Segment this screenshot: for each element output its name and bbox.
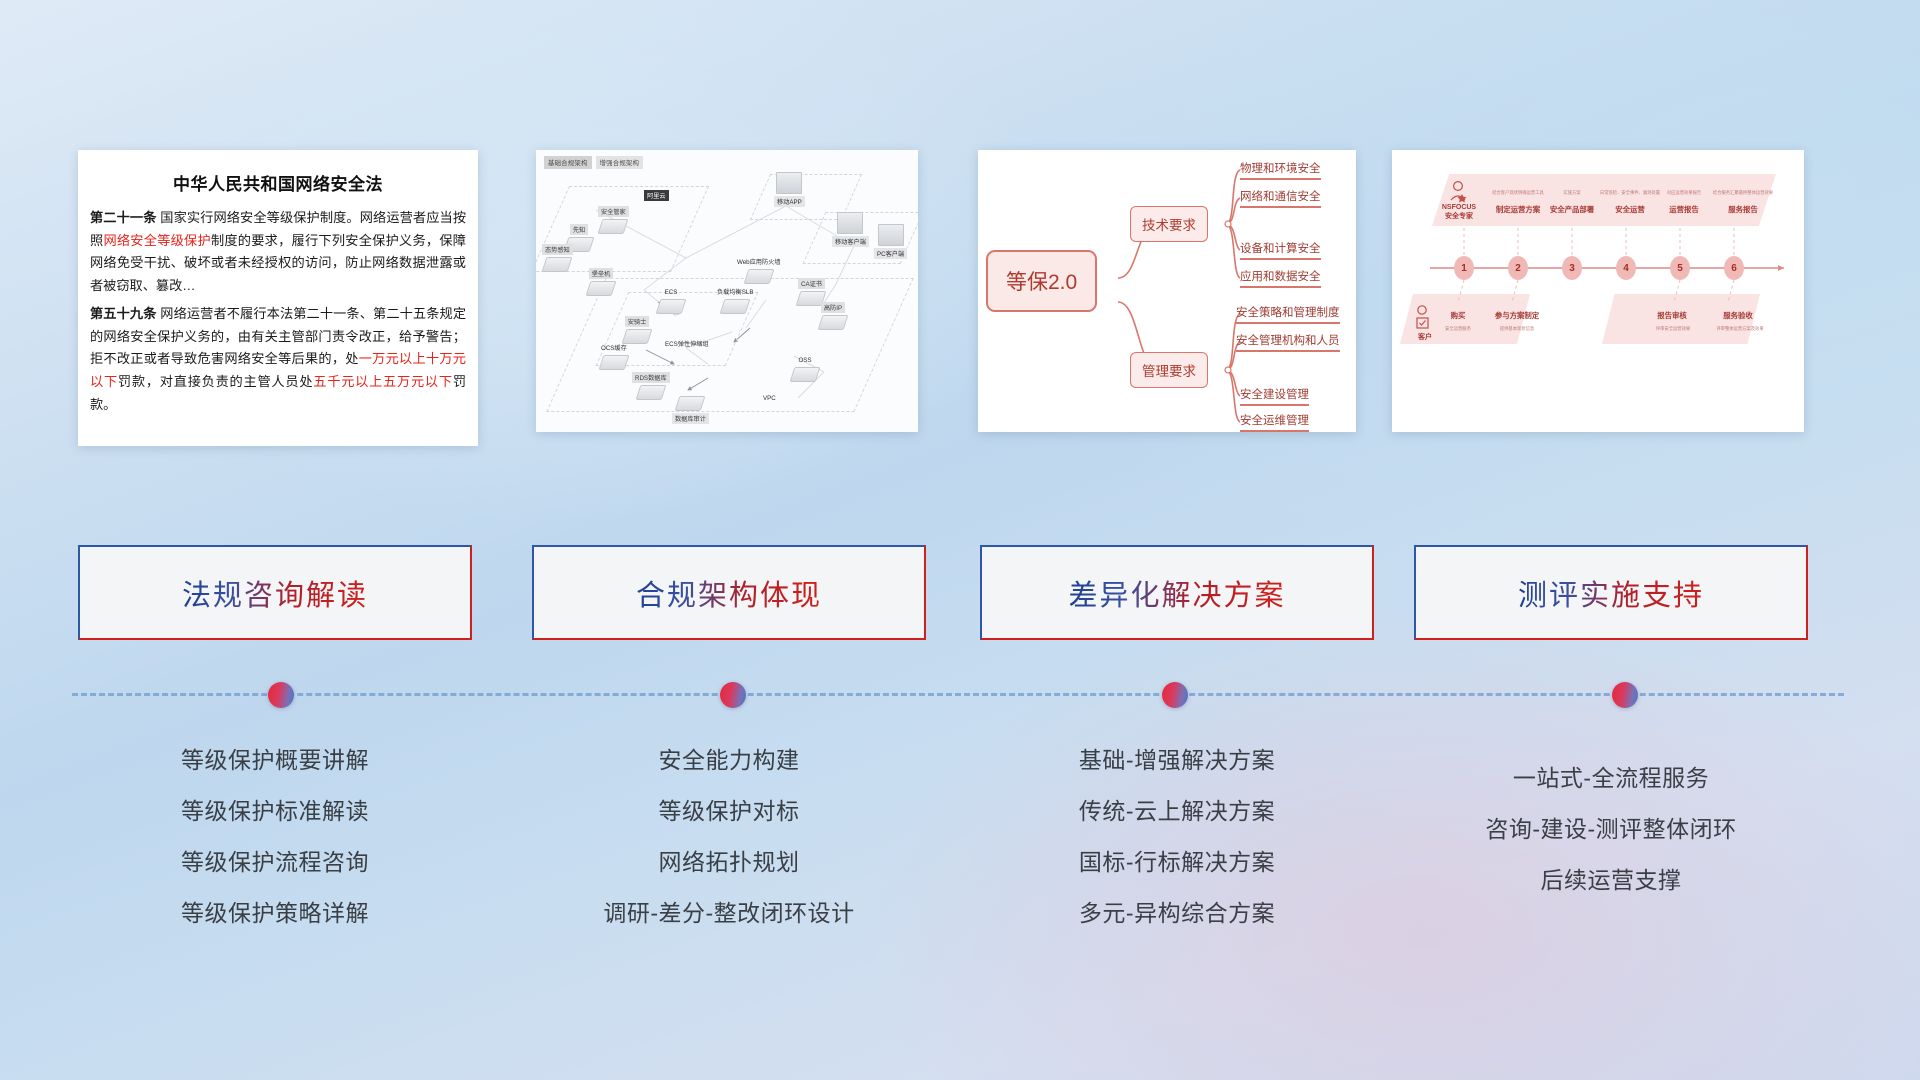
list-item[interactable]: 等级保护对标	[532, 786, 926, 837]
law-document-title: 中华人民共和国网络安全法	[90, 170, 466, 195]
section-title-label-2: 合规架构体现	[636, 572, 822, 614]
list-item[interactable]: 等级保护流程咨询	[78, 837, 472, 888]
arch-node-ca-cert-label: CA证书	[798, 278, 825, 289]
expert-step-3-name: 安全产品部署	[1540, 204, 1604, 215]
list-item[interactable]: 咨询-建设-测评整体闭环	[1414, 804, 1808, 855]
feature-list-row: 等级保护概要讲解 等级保护标准解读 等级保护流程咨询 等级保护策略详解 安全能力…	[0, 735, 1920, 965]
law-article-21: 第二十一条 国家实行网络安全等级保护制度。网络运营者应当按照网络安全等级保护制度…	[90, 207, 466, 298]
arch-node-xianzhi-label: 先知	[570, 224, 588, 235]
arch-node-anqishi-label: 安骑士	[625, 316, 650, 327]
cloud-architecture-card[interactable]: 基础合规架构 增强合规架构	[536, 150, 918, 432]
law-article-59: 第五十九条 网络运营者不履行本法第二十一条、第二十五条规定的网络安全保护义务的，…	[90, 303, 466, 417]
arch-node-mobile-client-label: 移动客户端	[832, 236, 869, 247]
arch-node-rds-label: RDS数据库	[632, 372, 670, 383]
arch-node-aliyun[interactable]: 阿里云	[644, 190, 669, 203]
mindmap-branch-technical[interactable]: 技术要求	[1130, 206, 1208, 242]
list-item[interactable]: 传统-云上解决方案	[980, 786, 1374, 837]
arch-node-ocs-cache-label: OCS缓存	[598, 342, 630, 353]
mindmap-collapse-handle-mgmt	[1225, 367, 1231, 373]
arch-node-situation-awareness-label: 态势感知	[542, 244, 573, 255]
customer-step-3-name: 报告审核	[1642, 310, 1702, 321]
mindmap-leaf-tech-3[interactable]: 应用和数据安全	[1240, 268, 1321, 288]
arch-icon-rds	[635, 385, 666, 400]
timeline-step-dot-1[interactable]: 1	[1454, 256, 1474, 280]
list-item[interactable]: 等级保护概要讲解	[78, 735, 472, 786]
timeline-step-dot-2[interactable]: 2	[1508, 256, 1528, 280]
arch-node-pc-client[interactable]: PC客户端	[874, 224, 907, 259]
arch-icon-bastion-host	[586, 281, 617, 296]
arch-node-db-audit[interactable]: 数据库审计	[672, 396, 709, 424]
list-item[interactable]: 基础-增强解决方案	[980, 735, 1374, 786]
timeline-track	[72, 693, 1844, 696]
expert-step-6-name: 服务报告	[1704, 204, 1782, 215]
list-item[interactable]: 多元-异构综合方案	[980, 888, 1374, 939]
arch-icon-db-audit	[675, 396, 706, 411]
arch-node-ecs[interactable]: ECS	[658, 288, 684, 314]
arch-node-oss[interactable]: OSS	[792, 356, 818, 382]
arch-node-pc-client-label: PC客户端	[874, 248, 907, 259]
customer-step-4-sub: 评审整体运营方案及效果	[1702, 326, 1778, 332]
arch-node-anqishi[interactable]: 安骑士	[624, 316, 650, 344]
law-article-21-label: 第二十一条	[90, 210, 157, 225]
customer-person-icon	[1417, 306, 1428, 328]
arch-node-mobile-app-label: 移动APP	[774, 196, 805, 207]
arch-node-rds[interactable]: RDS数据库	[632, 372, 670, 400]
nsfocus-timeline-card[interactable]: NSFOCUS安全专家 客户 结合客户现状明确运营工具 制定运营方案 实施方案 …	[1392, 150, 1804, 432]
section-title-box-1[interactable]: 法规咨询解读	[78, 545, 472, 640]
section-title-box-3[interactable]: 差异化解决方案	[980, 545, 1374, 640]
arch-node-vpc-label: VPC	[760, 394, 779, 403]
arch-node-db-audit-label: 数据库审计	[672, 413, 709, 424]
section-title-row: 法规咨询解读 合规架构体现 差异化解决方案 测评实施支持	[0, 545, 1920, 640]
mindmap-leaf-mgmt-3[interactable]: 安全运维管理	[1240, 412, 1309, 432]
architecture-diagram: 基础合规架构 增强合规架构	[536, 150, 918, 432]
arch-node-oss-label: OSS	[795, 356, 814, 365]
timeline-step-dot-5[interactable]: 5	[1670, 256, 1690, 280]
feature-column-2: 安全能力构建 等级保护对标 网络拓扑规划 调研-差分-整改闭环设计	[532, 735, 926, 939]
section-title-label-3: 差异化解决方案	[1068, 572, 1285, 614]
customer-step-2-name: 参与方案制定	[1484, 310, 1550, 321]
arch-node-bastion-host-label: 堡垒机	[589, 268, 614, 279]
nsfocus-expert-label: NSFOCUS安全专家	[1432, 204, 1486, 222]
arch-node-ocs-cache[interactable]: OCS缓存	[598, 342, 630, 370]
list-item[interactable]: 国标-行标解决方案	[980, 837, 1374, 888]
arch-node-security-butler-label: 安全管家	[598, 206, 629, 217]
timeline-dashed-line	[72, 693, 1844, 696]
feature-column-3: 基础-增强解决方案 传统-云上解决方案 国标-行标解决方案 多元-异构综合方案	[980, 735, 1374, 939]
screenshot-card-row: 中华人民共和国网络安全法 第二十一条 国家实行网络安全等级保护制度。网络运营者应…	[0, 150, 1920, 446]
list-item[interactable]: 等级保护标准解读	[78, 786, 472, 837]
arch-icon-waf	[743, 269, 774, 284]
mindmap-leaf-tech-2[interactable]: 设备和计算安全	[1240, 240, 1321, 260]
expert-step-6-sub: 结合服务汇聚最终整体运营效果	[1704, 190, 1782, 196]
mindmap-collapse-handle-tech	[1225, 221, 1231, 227]
arch-node-mobile-client[interactable]: 移动客户端	[832, 212, 869, 247]
arch-icon-pc-client	[878, 224, 904, 246]
poster-stage: 中华人民共和国网络安全法 第二十一条 国家实行网络安全等级保护制度。网络运营者应…	[0, 0, 1920, 1080]
mindmap-leaf-tech-1[interactable]: 网络和通信安全	[1240, 188, 1321, 208]
list-item[interactable]: 等级保护策略详解	[78, 888, 472, 939]
timeline-marker-1[interactable]	[268, 682, 294, 708]
law-document-card[interactable]: 中华人民共和国网络安全法 第二十一条 国家实行网络安全等级保护制度。网络运营者应…	[78, 150, 478, 446]
arch-node-ecs-scaling-group-label: ECS弹性伸缩组	[662, 338, 712, 349]
mindmap-card[interactable]: 等保2.0 技术要求 管理要求 物理和环境安全 网络和通信安全 设备和计算安全 …	[978, 150, 1356, 432]
arch-node-bastion-host[interactable]: 堡垒机	[588, 268, 614, 296]
customer-step-3-sub: 评审安全运营效果	[1638, 326, 1708, 332]
customer-step-2-sub: 提供基本现状信息	[1484, 326, 1550, 332]
arch-icon-mobile-app	[776, 172, 802, 194]
arch-node-waf[interactable]: Web应用防火墙	[734, 256, 784, 284]
arch-node-anti-ddos-ip[interactable]: 高防IP	[820, 302, 846, 330]
arch-icon-anti-ddos-ip	[818, 315, 849, 330]
arch-icon-oss	[790, 367, 821, 382]
arch-node-security-butler[interactable]: 安全管家	[598, 206, 629, 234]
feature-column-4: 一站式-全流程服务 咨询-建设-测评整体闭环 后续运营支撑	[1414, 735, 1808, 906]
dengbao-mindmap: 等保2.0 技术要求 管理要求 物理和环境安全 网络和通信安全 设备和计算安全 …	[978, 150, 1356, 432]
arch-icon-mobile-client	[837, 212, 863, 234]
section-title-box-4[interactable]: 测评实施支持	[1414, 545, 1808, 640]
list-item[interactable]: 调研-差分-整改闭环设计	[532, 888, 926, 939]
timeline-marker-2[interactable]	[720, 682, 746, 708]
mindmap-leaf-mgmt-0[interactable]: 安全策略和管理制度	[1236, 304, 1340, 324]
expert-step-3-sub: 实施方案	[1540, 190, 1604, 196]
feature-column-1: 等级保护概要讲解 等级保护标准解读 等级保护流程咨询 等级保护策略详解	[78, 735, 472, 939]
timeline-marker-4[interactable]	[1612, 682, 1638, 708]
timeline-step-dot-3[interactable]: 3	[1562, 256, 1582, 280]
customer-step-1-name: 购买	[1436, 310, 1480, 321]
timeline-step-dot-4[interactable]: 4	[1616, 256, 1636, 280]
arch-node-slb[interactable]: 负载均衡SLB	[714, 286, 756, 314]
arch-node-situation-awareness[interactable]: 态势感知	[542, 244, 573, 272]
timeline-step-dot-6[interactable]: 6	[1724, 256, 1744, 280]
section-title-label-1: 法规咨询解读	[182, 572, 368, 614]
law-article-59-label: 第五十九条	[90, 306, 157, 321]
law-article-59-run-3: 五千元以上五万元以下	[313, 374, 453, 389]
expert-star-icon	[1458, 194, 1467, 203]
mindmap-root[interactable]: 等保2.0	[986, 250, 1097, 312]
nsfocus-customer-label: 客户	[1408, 332, 1442, 342]
section-title-label-4: 测评实施支持	[1518, 572, 1704, 614]
arch-node-anti-ddos-ip-label: 高防IP	[821, 302, 845, 313]
list-item[interactable]: 后续运营支撑	[1414, 855, 1808, 906]
list-item[interactable]: 一站式-全流程服务	[1414, 753, 1808, 804]
nsfocus-service-flow: NSFOCUS安全专家 客户 结合客户现状明确运营工具 制定运营方案 实施方案 …	[1392, 150, 1804, 432]
customer-step-1-sub: 安全运营服务	[1432, 326, 1484, 332]
mindmap-leaf-mgmt-1[interactable]: 安全管理机构和人员	[1236, 332, 1340, 352]
arch-node-aliyun-label: 阿里云	[644, 190, 669, 201]
arch-node-slb-label: 负载均衡SLB	[714, 286, 756, 297]
law-article-21-run-1: 网络安全等级保护	[103, 233, 211, 248]
arch-node-vpc[interactable]: VPC	[760, 394, 779, 405]
arch-node-waf-label: Web应用防火墙	[734, 256, 784, 267]
list-item[interactable]: 安全能力构建	[532, 735, 926, 786]
arch-node-ecs-label: ECS	[662, 288, 681, 297]
arch-icon-security-butler	[598, 219, 629, 234]
mindmap-branch-management[interactable]: 管理要求	[1130, 352, 1208, 388]
arch-node-ecs-scaling-group[interactable]: ECS弹性伸缩组	[662, 338, 712, 351]
arch-node-mobile-app[interactable]: 移动APP	[774, 172, 805, 207]
mindmap-leaf-mgmt-2[interactable]: 安全建设管理	[1240, 386, 1309, 406]
mindmap-leaf-tech-0[interactable]: 物理和环境安全	[1240, 160, 1321, 180]
law-article-59-run-2: 罚款，对直接负责的主管人员处	[118, 374, 313, 389]
list-item[interactable]: 网络拓扑规划	[532, 837, 926, 888]
timeline-marker-3[interactable]	[1162, 682, 1188, 708]
arch-icon-slb	[720, 299, 751, 314]
arch-icon-ocs-cache	[598, 355, 629, 370]
arch-icon-situation-awareness	[542, 257, 573, 272]
arch-icon-ecs	[656, 299, 687, 314]
customer-step-4-name: 服务验收	[1708, 310, 1768, 321]
section-title-box-2[interactable]: 合规架构体现	[532, 545, 926, 640]
